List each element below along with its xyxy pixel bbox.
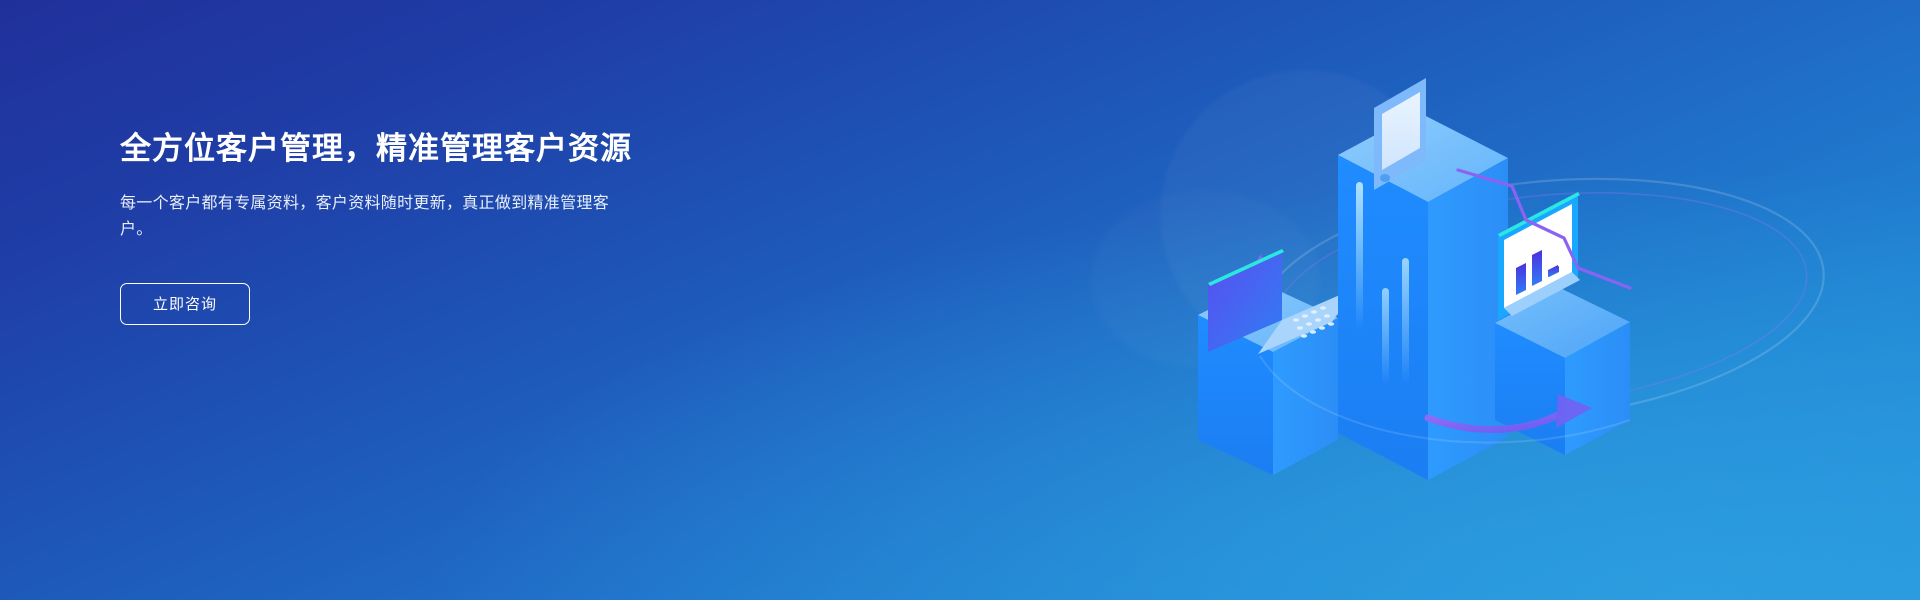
orbit-arrow-right-icon (1428, 394, 1592, 429)
monitor-icon (1498, 192, 1580, 320)
right-pillar (1495, 288, 1630, 455)
hero-subtext: 每一个客户都有专属资料，客户资料随时更新，真正做到精准管理客户。 (120, 191, 610, 243)
page-title: 全方位客户管理，精准管理客户资源 (120, 130, 820, 169)
declining-trend-line-icon (1458, 170, 1630, 288)
hero-copy: 全方位客户管理，精准管理客户资源 每一个客户都有专属资料，客户资料随时更新，真正… (120, 130, 820, 325)
hero-banner: 全方位客户管理，精准管理客户资源 每一个客户都有专属资料，客户资料随时更新，真正… (0, 0, 1920, 600)
background-blob-secondary-icon (1090, 190, 1320, 370)
consult-now-button[interactable]: 立即咨询 (120, 283, 250, 325)
monitor-bar-chart (1516, 250, 1559, 295)
orbit-ellipse-front-icon (1260, 356, 1630, 443)
